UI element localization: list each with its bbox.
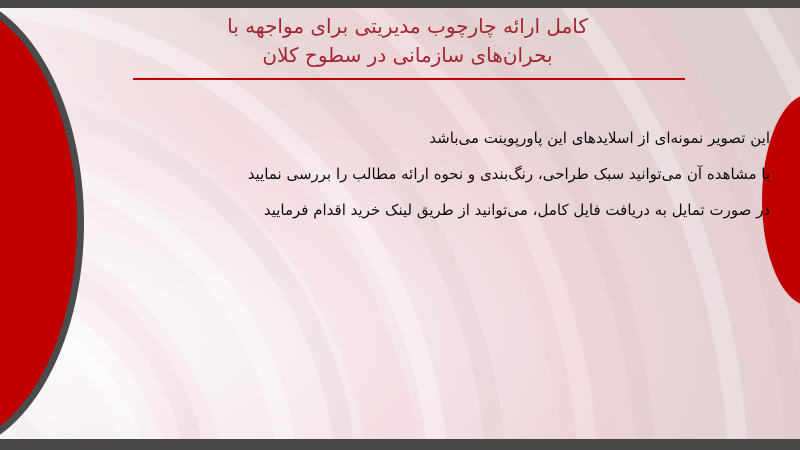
slide-frame-bottom	[0, 439, 800, 450]
slide-body-text: این تصویر نمونه‌ای از اسلایدهای این پاور…	[25, 120, 770, 228]
body-text-line-1: این تصویر نمونه‌ای از اسلایدهای این پاور…	[25, 120, 770, 156]
presentation-slide: کامل ارائه چارچوب مدیریتی برای مواجهه با…	[0, 0, 800, 450]
slide-title-line-2: بحران‌های سازمانی در سطوح کلان	[95, 41, 720, 70]
slide-canvas: کامل ارائه چارچوب مدیریتی برای مواجهه با…	[0, 8, 800, 439]
slide-title-line-1: کامل ارائه چارچوب مدیریتی برای مواجهه با	[95, 12, 720, 41]
slide-frame-top	[0, 0, 800, 8]
body-text-line-3: در صورت تمایل به دریافت فایل کامل، می‌تو…	[25, 192, 770, 228]
body-text-line-2: با مشاهده آن می‌توانید سبک طراحی، رنگ‌بن…	[25, 156, 770, 192]
slide-content: کامل ارائه چارچوب مدیریتی برای مواجهه با…	[0, 8, 800, 439]
slide-title: کامل ارائه چارچوب مدیریتی برای مواجهه با…	[95, 12, 720, 70]
title-underline-rule	[133, 78, 685, 80]
